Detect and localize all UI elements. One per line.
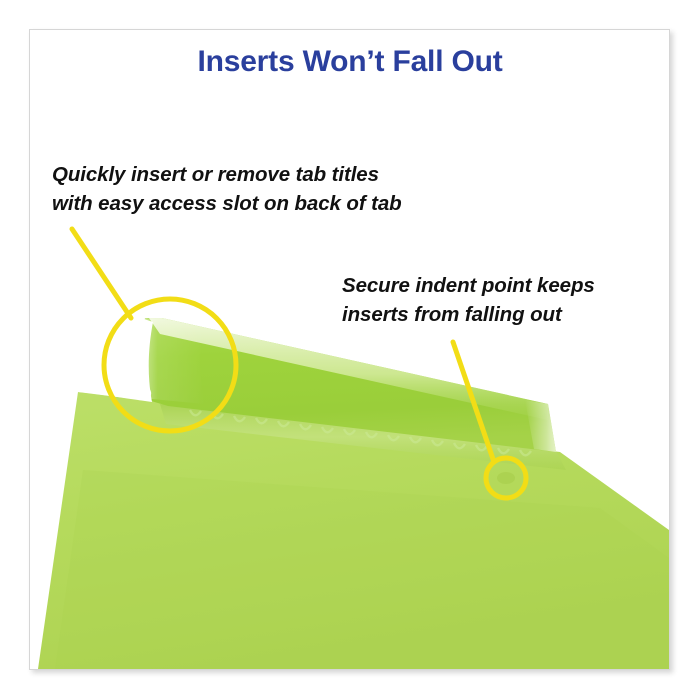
indent-point <box>497 472 515 484</box>
callout-left-leader-line <box>72 229 131 318</box>
page-title: Inserts Won’t Fall Out <box>0 44 700 79</box>
annotation-access-slot-line-2: with easy access slot on back of tab <box>52 189 402 218</box>
annotation-indent-point: Secure indent point keeps inserts from f… <box>342 271 595 329</box>
divider-tab-illustration <box>0 0 700 700</box>
annotation-access-slot-line-1: Quickly insert or remove tab titles <box>52 160 402 189</box>
annotation-indent-point-line-1: Secure indent point keeps <box>342 271 595 300</box>
annotation-indent-point-line-2: inserts from falling out <box>342 300 595 329</box>
annotation-access-slot: Quickly insert or remove tab titles with… <box>52 160 402 218</box>
product-feature-image: Inserts Won’t Fall Out Quickly insert or… <box>0 0 700 700</box>
